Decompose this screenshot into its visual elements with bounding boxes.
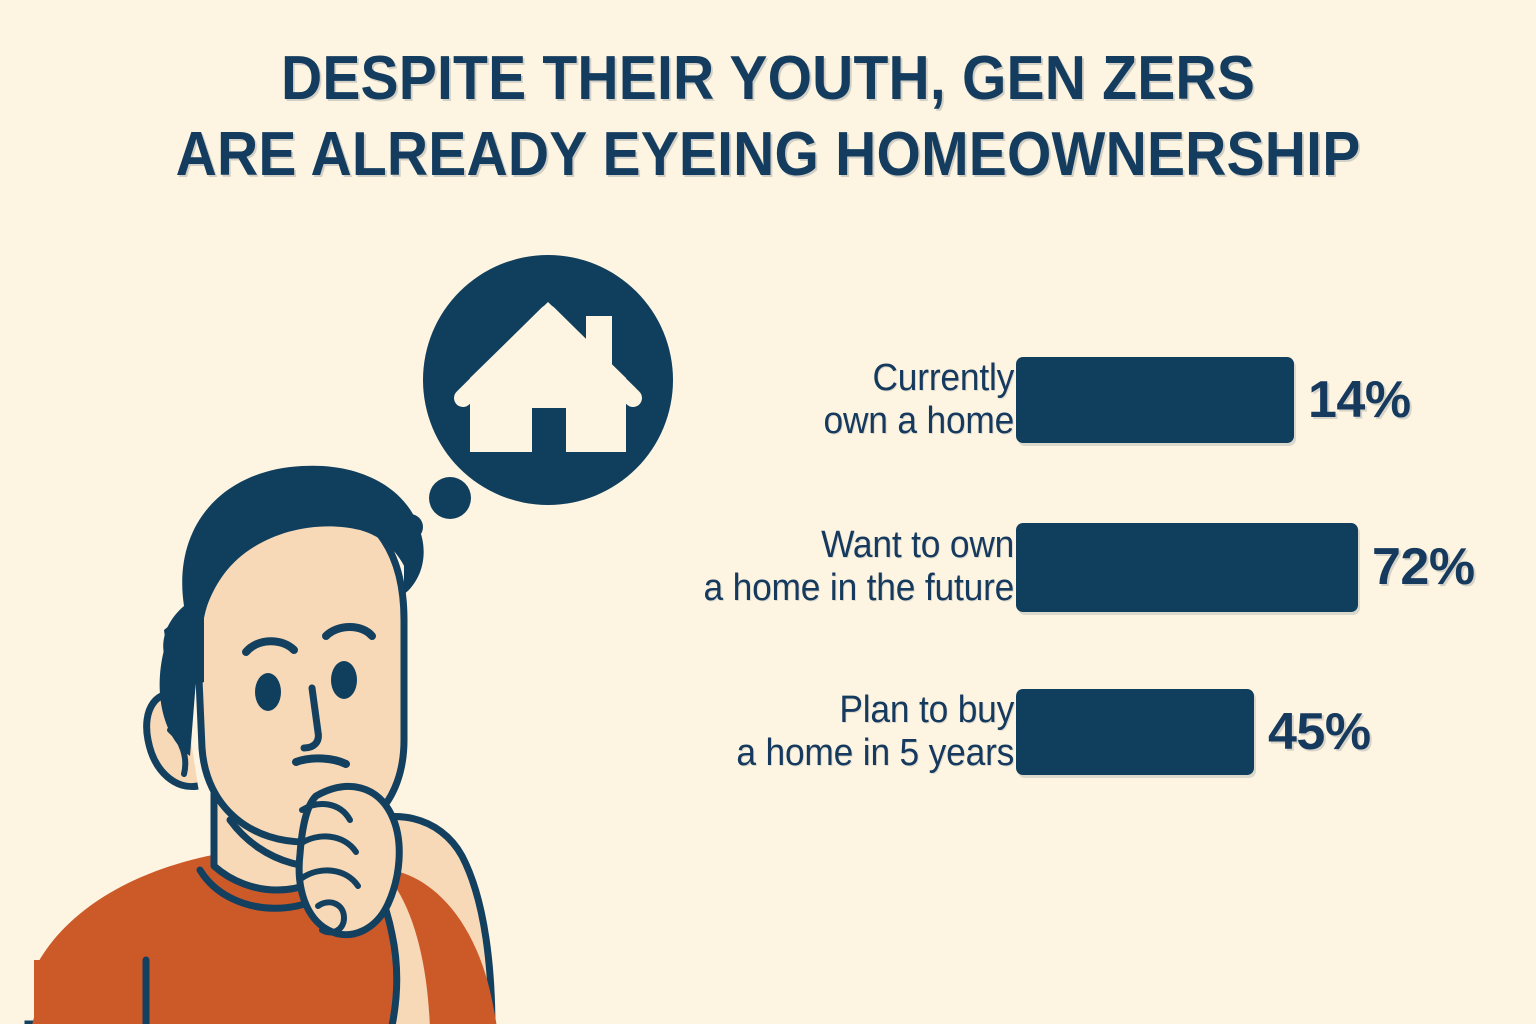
bar-label-line-2: own a home	[648, 400, 1014, 443]
page-title: DESPITE THEIR YOUTH, GEN ZERS ARE ALREAD…	[0, 48, 1536, 186]
character-illustration	[0, 230, 700, 1024]
title-line-1: DESPITE THEIR YOUTH, GEN ZERS	[61, 48, 1474, 110]
bar-label: Plan to buy a home in 5 years	[648, 689, 1016, 774]
bar-label: Want to own a home in the future	[648, 524, 1016, 609]
right-eye	[331, 661, 357, 699]
bar-label-line-1: Want to own	[648, 524, 1014, 567]
chart-row: Want to own a home in the future 72%	[620, 512, 1500, 622]
bar-value-label: 45%	[1268, 702, 1371, 762]
chart-row: Plan to buy a home in 5 years 45%	[620, 677, 1500, 787]
left-eye	[255, 673, 281, 711]
bar-label-line-2: a home in 5 years	[648, 732, 1014, 775]
bar-label-line-1: Plan to buy	[648, 689, 1014, 732]
character-hand	[299, 786, 399, 934]
bar-chart: Currently own a home 14% Want to own a h…	[620, 330, 1500, 800]
bar-label-line-1: Currently	[648, 357, 1014, 400]
bar-track: 45%	[1016, 689, 1500, 775]
bar-track: 14%	[1016, 357, 1500, 443]
bar-fill	[1016, 357, 1294, 443]
bar-fill	[1016, 523, 1358, 612]
chart-row: Currently own a home 14%	[620, 345, 1500, 455]
bar-value-label: 72%	[1372, 537, 1475, 597]
bar-label: Currently own a home	[648, 357, 1016, 442]
bar-label-line-2: a home in the future	[648, 567, 1014, 610]
bar-track: 72%	[1016, 523, 1500, 612]
infographic-canvas: DESPITE THEIR YOUTH, GEN ZERS ARE ALREAD…	[0, 0, 1536, 1024]
bar-value-label: 14%	[1308, 370, 1411, 430]
title-line-2: ARE ALREADY EYEING HOMEOWNERSHIP	[61, 124, 1474, 186]
thought-dot-large	[429, 477, 471, 519]
bar-fill	[1016, 689, 1254, 775]
